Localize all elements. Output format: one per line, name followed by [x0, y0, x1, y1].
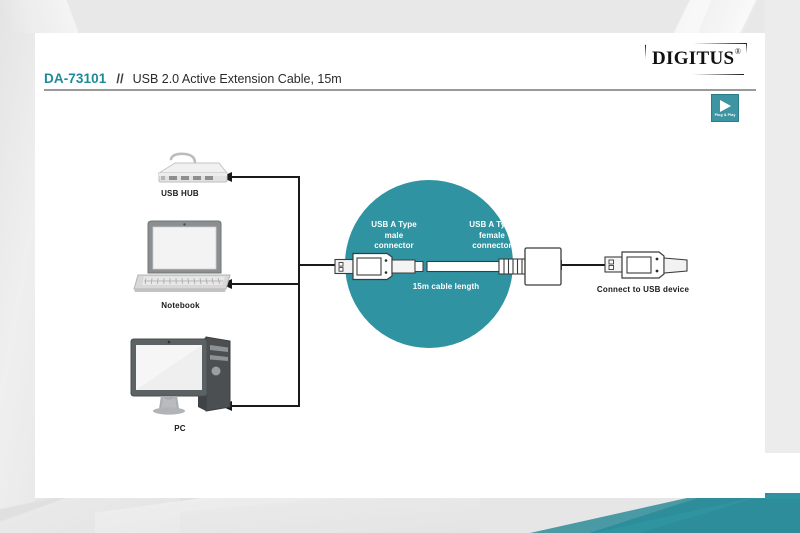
connect-to-usb-device-label: Connect to USB device: [563, 285, 723, 294]
usb-hub-label: USB HUB: [135, 189, 225, 198]
pc-label: PC: [140, 424, 220, 433]
background-bottom-band: [0, 498, 800, 533]
background-left-band: [0, 0, 35, 533]
notebook-icon: [130, 219, 234, 297]
decorative-teal-wedge-4: [640, 499, 800, 533]
usb-female-connector-art: [525, 248, 561, 285]
background-right-band: [765, 0, 800, 533]
slide-canvas: DIGITUS ® DA-73101 // USB 2.0 Active Ext…: [0, 0, 800, 533]
cable-strain-relief-art: [499, 259, 525, 274]
decorative-facet-top-right: [610, 0, 800, 36]
cable-body-art: [415, 262, 499, 272]
usb-plug-icon: [603, 250, 689, 280]
decorative-facet-top-right-2: [646, 0, 766, 36]
content-sheet: DIGITUS ® DA-73101 // USB 2.0 Active Ext…: [35, 33, 765, 498]
decorative-facet-top-left: [0, 0, 120, 33]
pc-icon: [130, 331, 236, 419]
notebook-label: Notebook: [133, 301, 228, 310]
product-diagram: USB A Type male connector USB A Type fem…: [35, 33, 765, 498]
background-top-band: [0, 0, 800, 33]
usb-male-connector-art: [335, 254, 415, 280]
